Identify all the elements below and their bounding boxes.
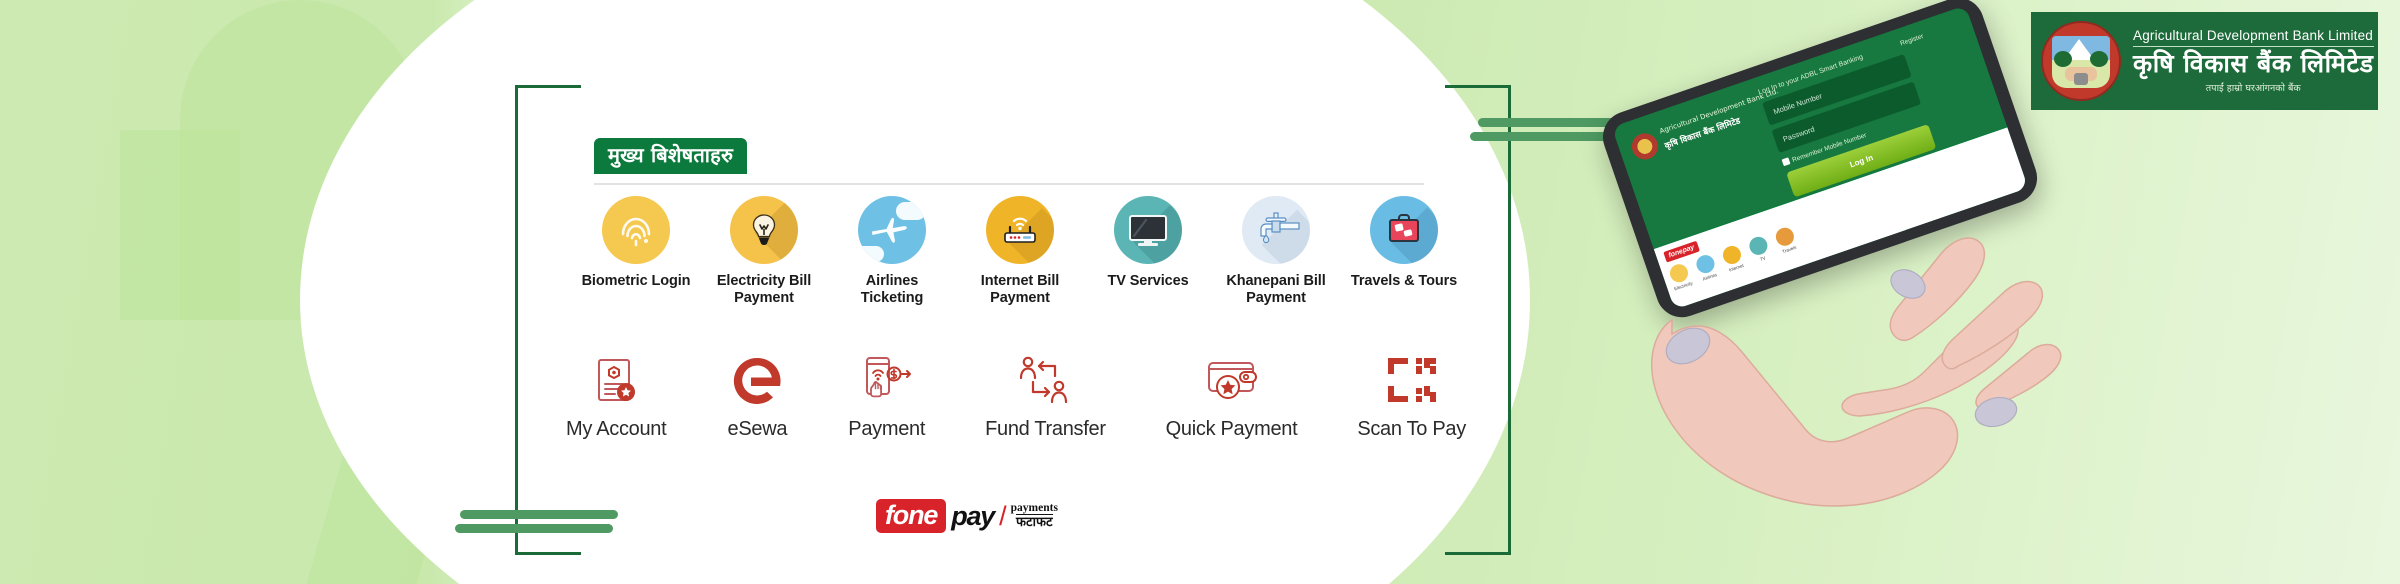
feature-label: Internet Bill Payment (964, 273, 1076, 306)
fonepay-fone-text: fone (885, 502, 937, 529)
feature-esewa[interactable]: eSewa (726, 350, 788, 441)
feature-label: My Account (566, 418, 666, 441)
feature-label: Scan To Pay (1357, 418, 1466, 441)
feature-biometric-login[interactable]: Biometric Login (580, 196, 692, 306)
bank-logo-text: Agricultural Development Bank Limited कृ… (2133, 28, 2374, 94)
feature-tv-services[interactable]: TV Services (1092, 196, 1204, 306)
promo-banner: मुख्य बिशेषताहरु Biometric Login (0, 0, 2400, 584)
wallet-star-icon (1201, 350, 1263, 412)
section-title-badge: मुख्य बिशेषताहरु (594, 138, 747, 174)
fonepay-tagline: payments फटाफट (1011, 503, 1058, 530)
feature-my-account[interactable]: My Account (566, 350, 666, 441)
fonepay-slash: / (999, 503, 1007, 530)
feature-label: Travels & Tours (1351, 273, 1457, 290)
fingerprint-icon (602, 196, 670, 264)
feature-airlines-ticketing[interactable]: Airlines Ticketing (836, 196, 948, 306)
qr-scan-icon (1381, 350, 1443, 412)
feature-label: Fund Transfer (985, 418, 1106, 441)
feature-label: Biometric Login (582, 273, 691, 290)
checkbox-box-icon (1782, 157, 1791, 166)
feature-electricity-bill-payment[interactable]: Electricity Bill Payment (708, 196, 820, 306)
feature-khanepani-bill-payment[interactable]: Khanepani Bill Payment (1220, 196, 1332, 306)
bg-block-1 (120, 130, 240, 320)
bank-logo-card: Agricultural Development Bank Limited कृ… (2031, 12, 2378, 110)
fonepay-red-box: fone (876, 499, 946, 533)
fonepay-payments-text: payments (1011, 503, 1058, 515)
feature-row-secondary: My Account eSewa (566, 350, 1466, 441)
bank-seal-icon (2041, 21, 2121, 101)
feature-label: Payment (848, 418, 925, 441)
bank-logo-divider (2133, 46, 2374, 47)
feature-fund-transfer[interactable]: Fund Transfer (985, 350, 1106, 441)
app-bank-seal-icon (1628, 130, 1661, 163)
bank-name-nepali: कृषि विकास बैंक लिमिटेड (2133, 51, 2374, 76)
feature-scan-to-pay[interactable]: Scan To Pay (1357, 350, 1466, 441)
feature-label: Khanepani Bill Payment (1220, 273, 1332, 306)
water-tap-icon (1242, 196, 1310, 264)
feature-label: Electricity Bill Payment (708, 273, 820, 306)
fund-transfer-people-icon (1014, 350, 1076, 412)
suitcase-icon (1370, 196, 1438, 264)
feature-label: Airlines Ticketing (836, 273, 948, 306)
bank-name-english: Agricultural Development Bank Limited (2133, 28, 2374, 43)
hand-illustration (1560, 170, 2120, 584)
mobile-payment-hand-icon (856, 350, 918, 412)
feature-quick-payment[interactable]: Quick Payment (1166, 350, 1298, 441)
bank-tagline: तपाईं हाम्रो घरआंगनको बैंक (2133, 81, 2374, 94)
feature-row-primary: Biometric Login Electricity Bill Payment (580, 196, 1460, 306)
airplane-icon (858, 196, 926, 264)
feature-label: eSewa (728, 418, 788, 441)
feature-label: TV Services (1107, 273, 1188, 290)
password-placeholder: Password (1782, 125, 1816, 144)
feature-payment[interactable]: Payment (848, 350, 925, 441)
television-icon (1114, 196, 1182, 264)
fonepay-logo: fone pay / payments फटाफट (876, 496, 1058, 536)
feature-internet-bill-payment[interactable]: Internet Bill Payment (964, 196, 1076, 306)
feature-label: Quick Payment (1166, 418, 1298, 441)
lightbulb-icon (730, 196, 798, 264)
router-wifi-icon (986, 196, 1054, 264)
content-area: मुख्य बिशेषताहरु Biometric Login (560, 0, 1460, 584)
feature-travels-and-tours[interactable]: Travels & Tours (1348, 196, 1460, 306)
fonepay-pay-text: pay (951, 503, 994, 530)
title-rule (594, 183, 1424, 185)
fonepay-fatafat-text: फटाफट (1016, 514, 1053, 529)
account-document-star-icon (585, 350, 647, 412)
register-link[interactable]: Register (1899, 33, 1924, 48)
esewa-logo-icon (726, 350, 788, 412)
